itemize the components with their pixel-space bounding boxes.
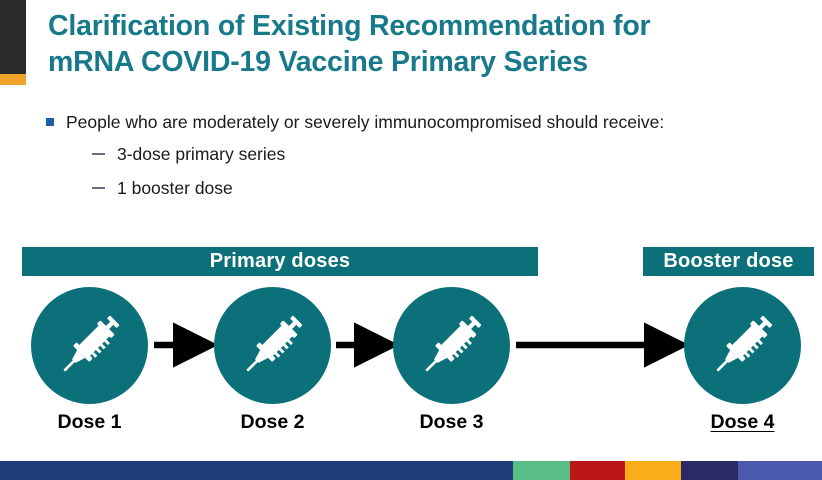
sub-bullet-item-2-label: 1 booster dose bbox=[117, 178, 233, 198]
page-title-line-2: mRNA COVID-19 Vaccine Primary Series bbox=[48, 44, 748, 80]
bullet-item-primary-label: People who are moderately or severely im… bbox=[66, 110, 784, 135]
dash-bullet-icon bbox=[92, 187, 105, 189]
dose-label-3: Dose 3 bbox=[363, 411, 540, 434]
slide-canvas: Clarification of Existing Recommendation… bbox=[0, 0, 822, 480]
dose-label-1: Dose 1 bbox=[1, 411, 178, 434]
syringe-icon bbox=[700, 303, 785, 388]
footer-segment-orange bbox=[625, 461, 681, 480]
bullet-list: People who are moderately or severely im… bbox=[44, 110, 784, 210]
booster-dose-banner-label: Booster dose bbox=[663, 250, 793, 273]
syringe-icon bbox=[47, 303, 132, 388]
footer-segment-blue bbox=[0, 461, 513, 480]
dose-node-4[interactable]: Dose 4 bbox=[684, 287, 801, 404]
dose-node-3[interactable]: Dose 3 bbox=[393, 287, 510, 404]
dose-label-2: Dose 2 bbox=[184, 411, 361, 434]
left-edge-orange-accent bbox=[0, 74, 26, 85]
bullet-item-primary: People who are moderately or severely im… bbox=[44, 110, 784, 135]
primary-doses-banner: Primary doses bbox=[22, 247, 538, 276]
dash-bullet-icon bbox=[92, 153, 105, 155]
footer-segment-navy bbox=[681, 461, 738, 480]
dose-node-2[interactable]: Dose 2 bbox=[214, 287, 331, 404]
left-edge-dark-bar bbox=[0, 0, 26, 74]
sub-bullet-item-1: 3-dose primary series bbox=[92, 142, 784, 167]
syringe-icon bbox=[409, 303, 494, 388]
booster-dose-banner: Booster dose bbox=[643, 247, 814, 276]
sub-bullet-item-1-label: 3-dose primary series bbox=[117, 144, 285, 164]
dose-node-1[interactable]: Dose 1 bbox=[31, 287, 148, 404]
sub-bullet-list: 3-dose primary series 1 booster dose bbox=[44, 142, 784, 201]
footer-segment-red bbox=[570, 461, 625, 480]
dose-label-4: Dose 4 bbox=[654, 411, 822, 434]
primary-doses-banner-label: Primary doses bbox=[210, 250, 350, 273]
page-title: Clarification of Existing Recommendation… bbox=[48, 8, 748, 81]
square-bullet-icon bbox=[46, 118, 54, 126]
footer-color-bar bbox=[0, 461, 822, 480]
footer-segment-periwinkle bbox=[738, 461, 822, 480]
sub-bullet-item-2: 1 booster dose bbox=[92, 176, 784, 201]
syringe-icon bbox=[230, 303, 315, 388]
page-title-line-1: Clarification of Existing Recommendation… bbox=[48, 8, 748, 44]
footer-segment-green bbox=[513, 461, 570, 480]
